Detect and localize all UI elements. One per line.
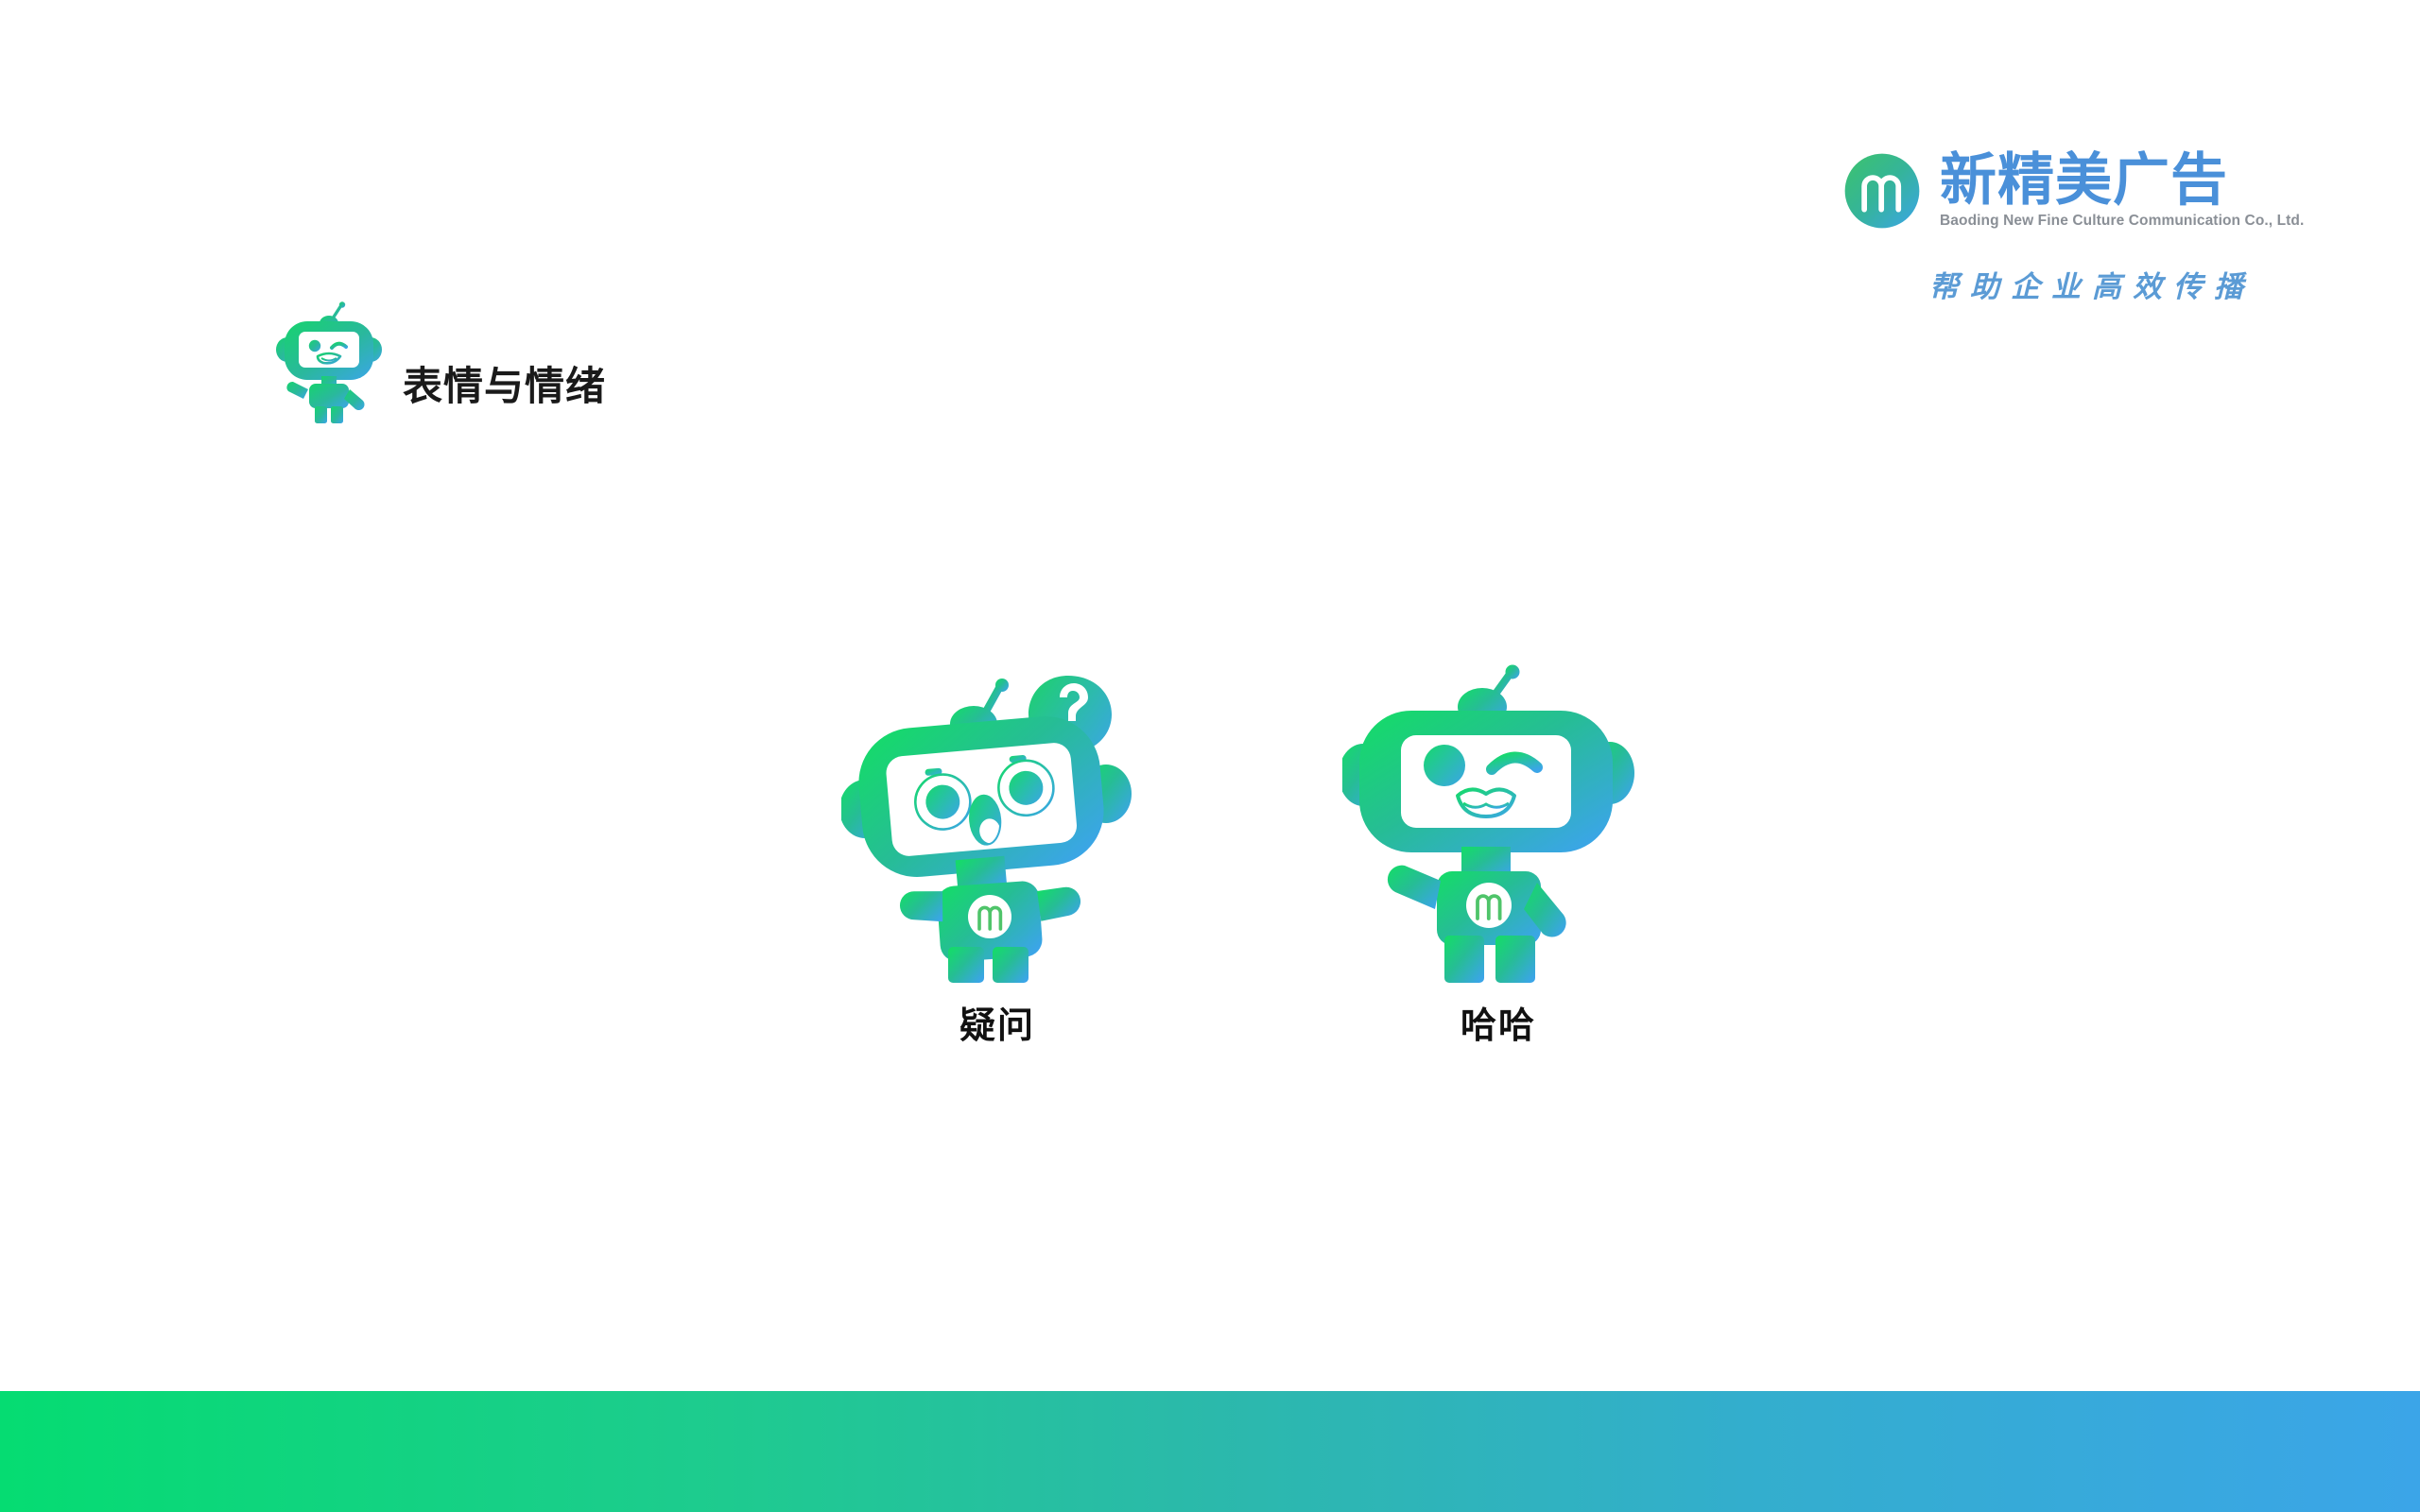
brand-logo-row: 新精美广告 Baoding New Fine Culture Communica… xyxy=(1843,151,2304,230)
brand-text-block: 新精美广告 Baoding New Fine Culture Communica… xyxy=(1940,151,2304,230)
mascot-question-icon xyxy=(841,652,1153,983)
mascot-gallery: 疑问 xyxy=(841,652,1654,1048)
brand-tagline: 帮助企业高效传播 xyxy=(1870,263,2314,305)
mascot-card-haha[interactable]: 哈哈 xyxy=(1342,652,1654,1048)
brand-circle-m-icon xyxy=(1843,152,1921,230)
mascot-wink-icon xyxy=(272,301,386,423)
brand-subtitle: Baoding New Fine Culture Communication C… xyxy=(1940,213,2304,230)
brand-name: 新精美广告 xyxy=(1940,151,2304,209)
bottom-gradient-bar xyxy=(0,1391,2420,1512)
mascot-card-question[interactable]: 疑问 xyxy=(841,652,1153,1048)
brand-logo: 新精美广告 Baoding New Fine Culture Communica… xyxy=(1843,151,2335,302)
page-title: 表情与情绪 xyxy=(403,354,606,412)
mascot-caption: 疑问 xyxy=(959,996,1035,1048)
section-header: 表情与情绪 xyxy=(272,301,606,423)
mascot-haha-icon xyxy=(1342,652,1654,983)
mascot-caption: 哈哈 xyxy=(1461,996,1536,1048)
